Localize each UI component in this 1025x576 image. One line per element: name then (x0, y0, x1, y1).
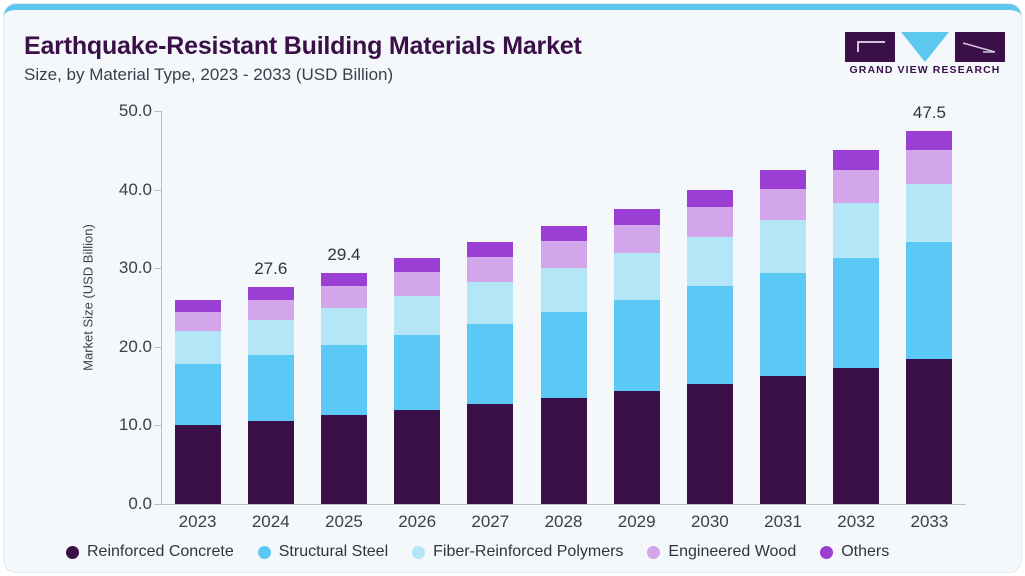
bar-segment[interactable] (906, 242, 952, 359)
bar-segment[interactable] (394, 272, 440, 296)
y-axis-tick-label: 40.0 (119, 180, 152, 200)
bar-segment[interactable] (760, 376, 806, 504)
bar-segment[interactable] (906, 150, 952, 184)
bar-value-label: 47.5 (913, 103, 946, 123)
bar-segment[interactable] (175, 425, 221, 504)
bar-stack[interactable] (906, 131, 952, 504)
y-axis-tick: 20.0 (90, 347, 152, 348)
x-axis-tick-label: 2023 (179, 512, 217, 532)
y-axis-tick-mark (154, 504, 161, 505)
bar-segment[interactable] (760, 273, 806, 376)
y-axis-tick: 10.0 (90, 425, 152, 426)
legend-label: Others (841, 543, 889, 561)
x-axis-line (161, 504, 966, 505)
x-axis-tick-label: 2029 (618, 512, 656, 532)
bar-segment[interactable] (248, 355, 294, 421)
bar-segment[interactable] (833, 368, 879, 504)
bar-segment[interactable] (687, 207, 733, 237)
chart-legend: Reinforced ConcreteStructural SteelFiber… (66, 543, 913, 561)
bar-value-label: 27.6 (254, 259, 287, 279)
bar-segment[interactable] (541, 241, 587, 268)
bar-segment[interactable] (760, 170, 806, 189)
bar-segment[interactable] (321, 345, 367, 415)
x-axis-tick-label: 2030 (691, 512, 729, 532)
legend-swatch-icon (66, 546, 79, 559)
bar-segment[interactable] (321, 286, 367, 308)
y-axis-tick: 40.0 (90, 190, 152, 191)
bar-segment[interactable] (248, 287, 294, 300)
bar-stack[interactable] (833, 150, 879, 504)
bar-segment[interactable] (614, 225, 660, 253)
y-axis-tick-label: 50.0 (119, 101, 152, 121)
bar-stack[interactable] (467, 242, 513, 504)
bar-segment[interactable] (248, 300, 294, 320)
bar-segment[interactable] (906, 359, 952, 504)
bar-segment[interactable] (687, 384, 733, 504)
legend-label: Reinforced Concrete (87, 543, 234, 561)
bar-segment[interactable] (321, 415, 367, 504)
bar-segment[interactable] (394, 335, 440, 410)
x-axis-tick-label: 2033 (910, 512, 948, 532)
y-axis-tick-label: 20.0 (119, 337, 152, 357)
x-axis-tick-label: 2027 (471, 512, 509, 532)
bar-segment[interactable] (467, 324, 513, 404)
y-axis-tick: 30.0 (90, 268, 152, 269)
y-axis-tick-mark (154, 347, 161, 348)
y-axis-line (161, 111, 162, 504)
bar-segment[interactable] (906, 131, 952, 151)
legend-item[interactable]: Fiber-Reinforced Polymers (412, 543, 623, 561)
bar-stack[interactable] (760, 170, 806, 504)
x-axis-tick-label: 2025 (325, 512, 363, 532)
x-axis-tick-label: 2028 (545, 512, 583, 532)
y-axis-tick-mark (154, 190, 161, 191)
legend-swatch-icon (647, 546, 660, 559)
bar-segment[interactable] (175, 331, 221, 364)
bar-segment[interactable] (541, 398, 587, 504)
bar-segment[interactable] (394, 296, 440, 335)
bar-segment[interactable] (321, 273, 367, 286)
bar-segment[interactable] (760, 220, 806, 273)
y-axis-tick-mark (154, 425, 161, 426)
y-axis-tick-label: 10.0 (119, 415, 152, 435)
bar-segment[interactable] (833, 203, 879, 258)
y-axis-tick: 50.0 (90, 111, 152, 112)
bar-segment[interactable] (687, 286, 733, 383)
legend-label: Fiber-Reinforced Polymers (433, 543, 623, 561)
bar-stack[interactable] (614, 209, 660, 504)
y-axis-title: Market Size (USD Billion) (81, 188, 96, 408)
bar-stack[interactable] (541, 226, 587, 504)
bar-segment[interactable] (833, 150, 879, 170)
bar-segment[interactable] (687, 190, 733, 207)
bar-segment[interactable] (687, 237, 733, 287)
bar-stack[interactable] (248, 287, 294, 504)
bar-segment[interactable] (833, 170, 879, 203)
bar-segment[interactable] (394, 410, 440, 504)
bar-segment[interactable] (175, 300, 221, 313)
y-axis-tick-label: 30.0 (119, 258, 152, 278)
y-axis-tick-mark (154, 268, 161, 269)
legend-swatch-icon (412, 546, 425, 559)
x-axis-tick-label: 2032 (837, 512, 875, 532)
bar-segment[interactable] (467, 242, 513, 257)
chart-card: Earthquake-Resistant Building Materials … (4, 4, 1021, 572)
bar-segment[interactable] (175, 364, 221, 425)
bar-segment[interactable] (541, 312, 587, 398)
bar-segment[interactable] (833, 258, 879, 368)
y-axis-tick-mark (154, 111, 161, 112)
legend-item[interactable]: Others (820, 543, 889, 561)
legend-item[interactable]: Reinforced Concrete (66, 543, 234, 561)
legend-item[interactable]: Structural Steel (258, 543, 388, 561)
x-axis-tick-label: 2031 (764, 512, 802, 532)
legend-label: Engineered Wood (668, 543, 796, 561)
y-axis-tick-label: 0.0 (128, 494, 152, 514)
bar-segment[interactable] (321, 308, 367, 345)
bar-segment[interactable] (614, 300, 660, 391)
legend-item[interactable]: Engineered Wood (647, 543, 796, 561)
bar-segment[interactable] (614, 253, 660, 299)
bar-value-label: 29.4 (327, 245, 360, 265)
bar-stack[interactable] (175, 300, 221, 504)
bar-segment[interactable] (467, 282, 513, 324)
bar-stack[interactable] (687, 190, 733, 504)
bar-segment[interactable] (541, 268, 587, 312)
bar-segment[interactable] (906, 184, 952, 242)
bar-segment[interactable] (467, 257, 513, 282)
bar-segment[interactable] (175, 312, 221, 331)
bar-chart-plot: Market Size (USD Billion) 0.010.020.030.… (4, 10, 1021, 572)
bar-segment[interactable] (394, 258, 440, 272)
legend-swatch-icon (258, 546, 271, 559)
x-axis-tick-label: 2024 (252, 512, 290, 532)
bar-stack[interactable] (321, 273, 367, 504)
legend-swatch-icon (820, 546, 833, 559)
y-axis-tick: 0.0 (90, 504, 152, 505)
bar-segment[interactable] (760, 189, 806, 220)
x-axis-tick-label: 2026 (398, 512, 436, 532)
bar-segment[interactable] (467, 404, 513, 504)
bar-segment[interactable] (248, 320, 294, 355)
bar-segment[interactable] (614, 391, 660, 504)
bar-segment[interactable] (541, 226, 587, 242)
bar-segment[interactable] (614, 209, 660, 226)
legend-label: Structural Steel (279, 543, 388, 561)
bar-segment[interactable] (248, 421, 294, 504)
bar-stack[interactable] (394, 258, 440, 504)
